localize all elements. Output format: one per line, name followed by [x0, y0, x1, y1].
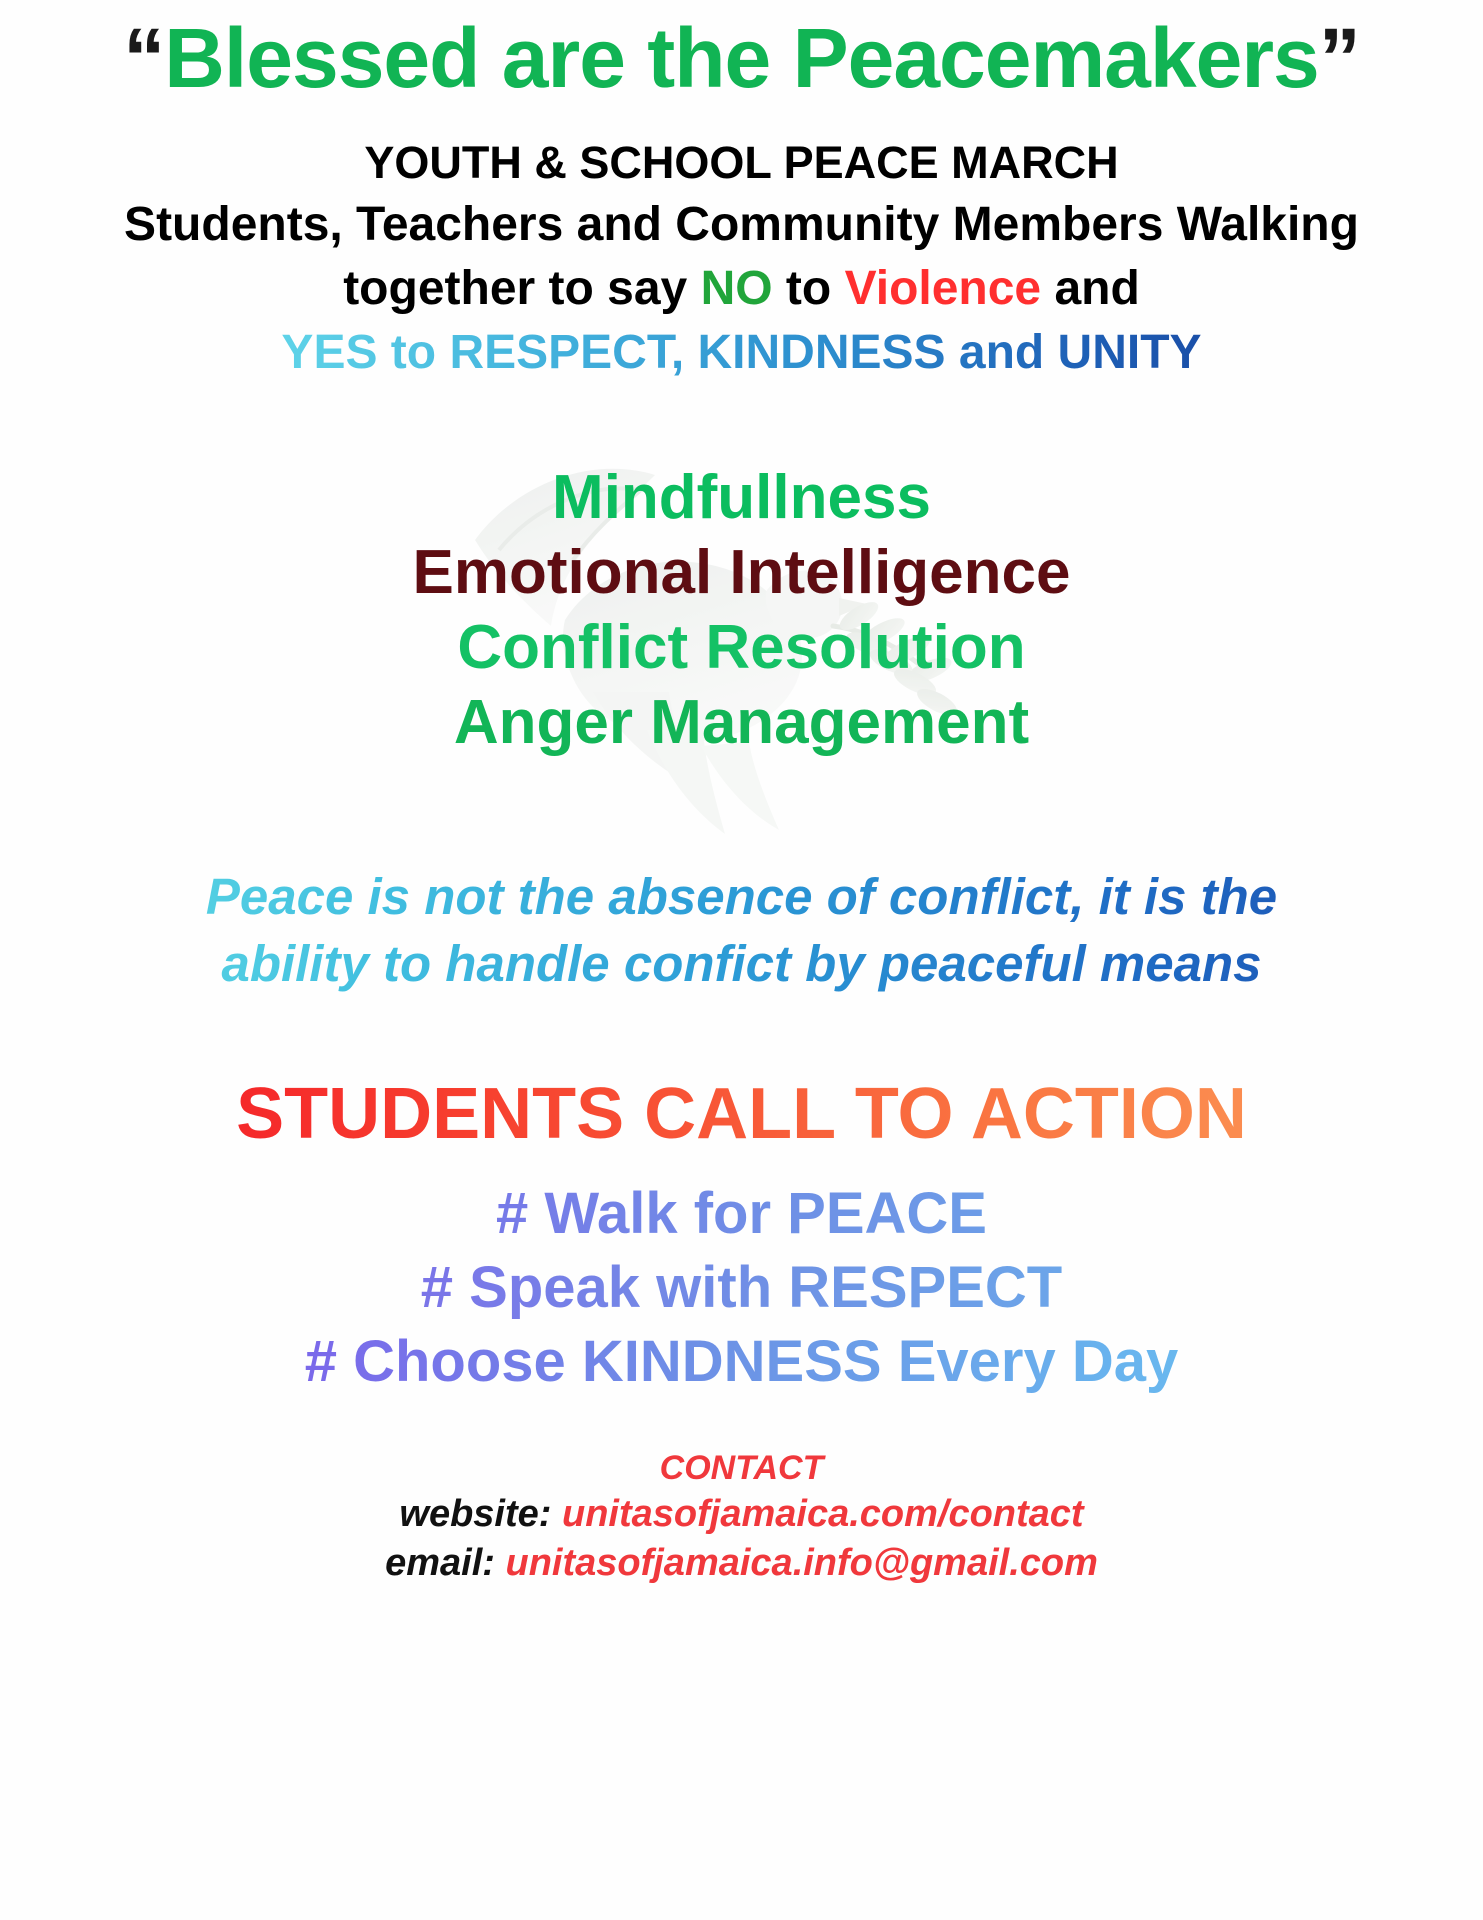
call-to-action-list: # Walk for PEACE # Speak with RESPECT # …: [0, 1177, 1483, 1400]
contact-email-row: email: unitasofjamaica.info@gmail.com: [0, 1539, 1483, 1588]
contact-email-value[interactable]: unitasofjamaica.info@gmail.com: [505, 1542, 1097, 1584]
contact-block: CONTACT website: unitasofjamaica.com/con…: [0, 1446, 1483, 1589]
topic-item-conflict-resolution: Conflict Resolution: [0, 610, 1483, 685]
contact-website-row: website: unitasofjamaica.com/contact: [0, 1490, 1483, 1539]
subtitle-line-3: together to say NO to Violence and: [0, 257, 1483, 321]
peace-quote-line-2: ability to handle confict by peaceful me…: [86, 931, 1397, 997]
peace-march-poster: “Blessed are the Peacemakers” YOUTH & SC…: [0, 0, 1483, 1920]
call-to-action-heading: STUDENTS CALL TO ACTION: [236, 1073, 1247, 1155]
subtitle-line-4: YES to RESPECT, KINDNESS and UNITY: [281, 321, 1201, 385]
peace-quote-line-1: Peace is not the absence of conflict, it…: [86, 864, 1397, 930]
contact-heading: CONTACT: [0, 1446, 1483, 1490]
open-quote-mark: “: [123, 11, 164, 105]
subtitle-line-3-mid: to: [773, 262, 845, 315]
close-quote-mark: ”: [1319, 11, 1360, 105]
subtitle-line-3-post: and: [1041, 262, 1140, 315]
emphasis-no: NO: [701, 262, 773, 315]
peace-quote: Peace is not the absence of conflict, it…: [0, 864, 1483, 997]
subtitle-line-4-wrap: YES to RESPECT, KINDNESS and UNITY: [0, 321, 1483, 385]
call-to-action-item-walk-for-peace: # Walk for PEACE: [0, 1177, 1483, 1251]
subtitle-line-3-pre: together to say: [343, 262, 700, 315]
call-to-action-heading-wrap: STUDENTS CALL TO ACTION: [0, 997, 1483, 1155]
subtitle-block: YOUTH & SCHOOL PEACE MARCH Students, Tea…: [0, 133, 1483, 384]
topic-item-mindfullness: Mindfullness: [0, 460, 1483, 535]
subtitle-line-2: Students, Teachers and Community Members…: [0, 193, 1483, 257]
call-to-action-item-speak-with-respect: # Speak with RESPECT: [0, 1251, 1483, 1325]
emphasis-violence: Violence: [845, 262, 1042, 315]
call-to-action-item-choose-kindness: # Choose KINDNESS Every Day: [0, 1325, 1483, 1399]
poster-title-text: Blessed are the Peacemakers: [164, 11, 1318, 105]
contact-email-label: email:: [385, 1542, 495, 1584]
topic-item-emotional-intelligence: Emotional Intelligence: [0, 535, 1483, 610]
contact-website-label: website:: [399, 1493, 551, 1535]
poster-title: “Blessed are the Peacemakers”: [0, 14, 1483, 103]
subtitle-line-1: YOUTH & SCHOOL PEACE MARCH: [0, 133, 1483, 193]
contact-website-value[interactable]: unitasofjamaica.com/contact: [562, 1493, 1084, 1535]
topic-list: Mindfullness Emotional Intelligence Conf…: [0, 460, 1483, 760]
topic-item-anger-management: Anger Management: [0, 685, 1483, 760]
